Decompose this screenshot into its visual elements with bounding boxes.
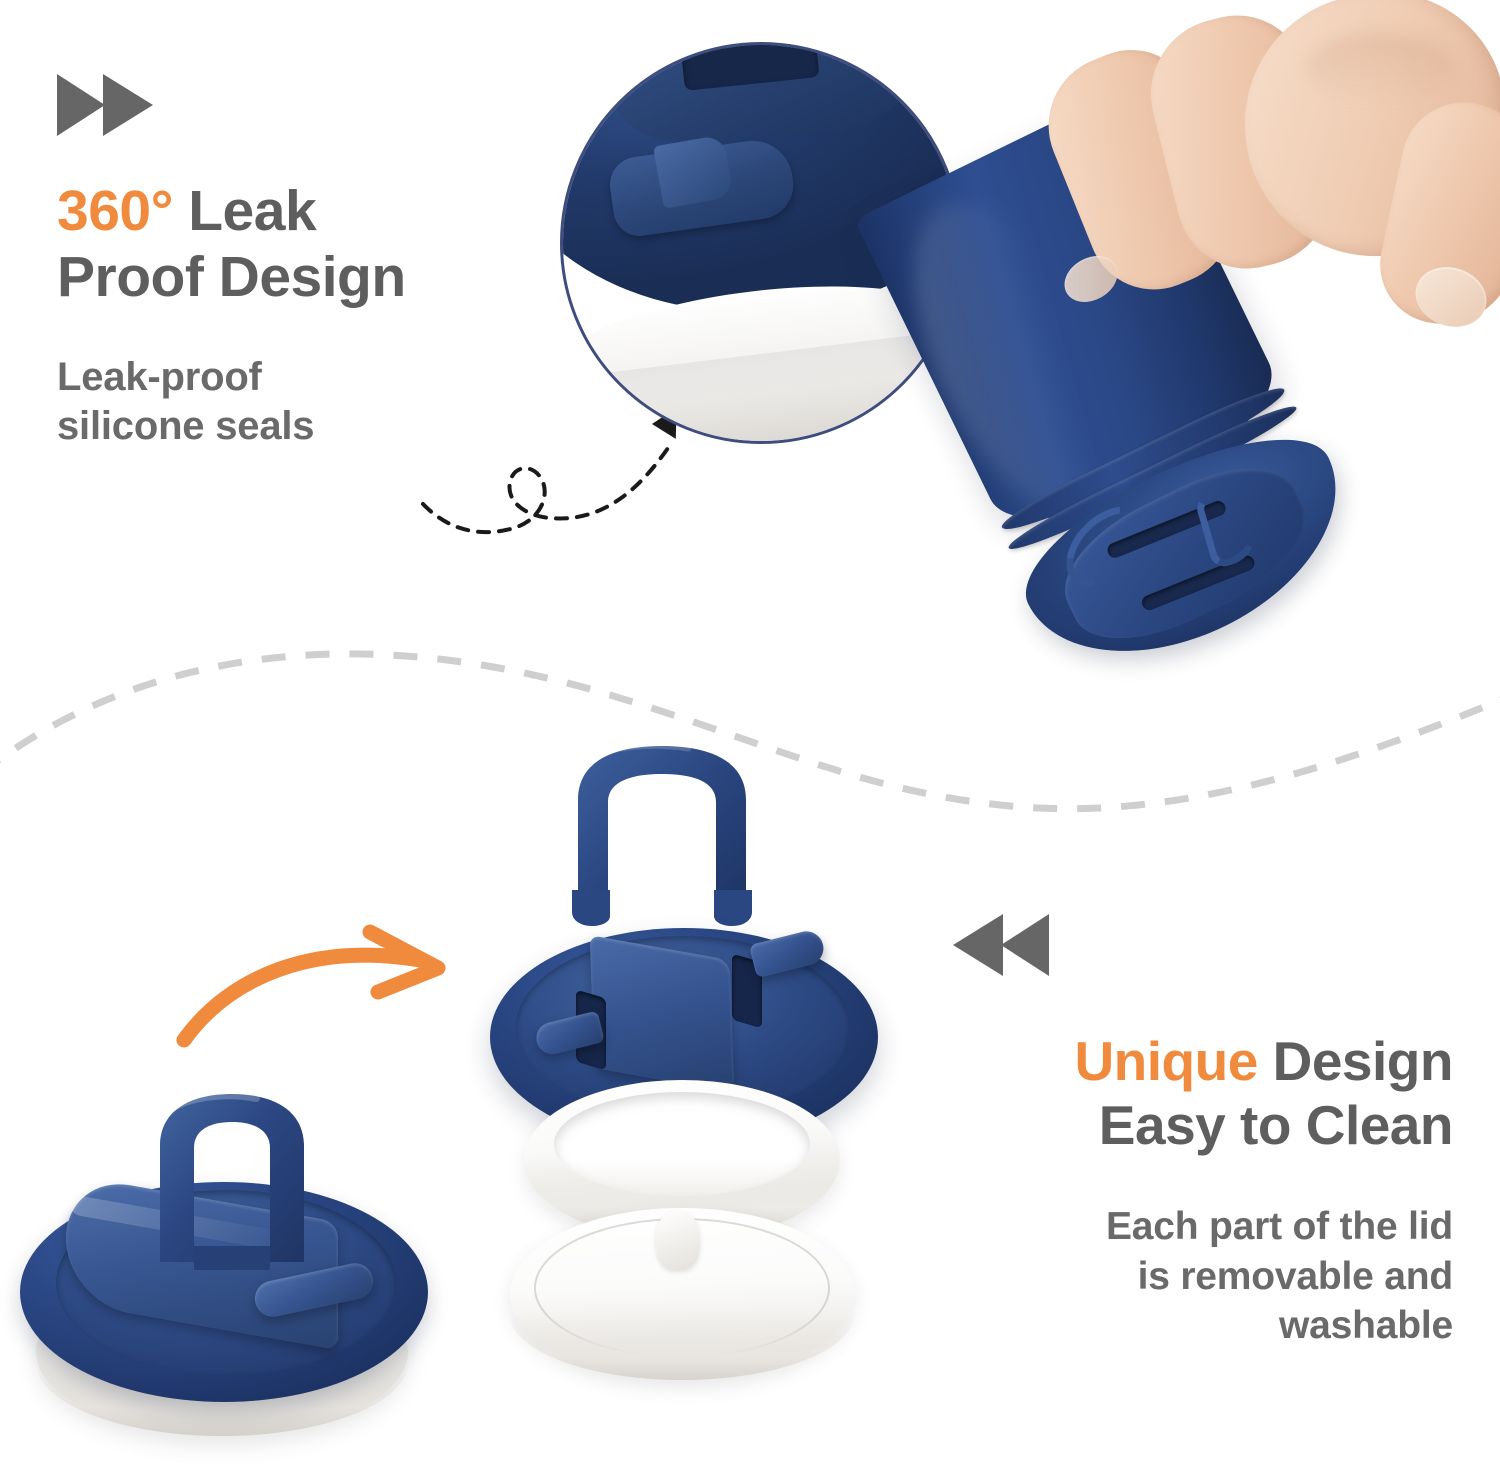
bottom-right-feature-block: Unique Design Easy to Clean Each part of… xyxy=(953,912,1453,1351)
subtext-line2: silicone seals xyxy=(57,402,406,451)
assembled-lid-with-handle xyxy=(8,1086,448,1466)
orange-curved-arrow-right xyxy=(172,928,472,1073)
headline-accent-unique: Unique xyxy=(1074,1030,1257,1092)
top-left-headline: 360° Leak Proof Design xyxy=(57,178,406,310)
headline-rest-line1: Leak xyxy=(173,179,316,243)
headline-line2: Proof Design xyxy=(57,244,406,310)
headline-line2: Easy to Clean xyxy=(953,1094,1453,1158)
bottom-right-headline: Unique Design Easy to Clean xyxy=(953,1030,1453,1158)
exploded-lid-parts xyxy=(480,740,900,1440)
subtext-line3: washable xyxy=(953,1301,1453,1351)
subtext-line1: Each part of the lid xyxy=(953,1202,1453,1252)
lid-handle-bracket xyxy=(558,740,768,920)
top-left-subtext: Leak-proof silicone seals xyxy=(57,353,406,451)
double-chevron-left-icon xyxy=(953,912,1065,978)
bottom-right-subtext: Each part of the lid is removable and wa… xyxy=(953,1202,1453,1352)
subtext-line2: is removable and xyxy=(953,1252,1453,1302)
double-chevron-right-icon xyxy=(57,72,169,138)
headline-accent-360: 360° xyxy=(57,179,173,243)
headline-rest-line1: Design xyxy=(1258,1030,1453,1092)
top-left-feature-block: 360° Leak Proof Design Leak-proof silico… xyxy=(57,72,406,451)
lid-center-flap xyxy=(590,935,735,1093)
gasket-nub xyxy=(656,1210,700,1270)
infographic-canvas: 360° Leak Proof Design Leak-proof silico… xyxy=(0,0,1500,1466)
assembled-carry-handle xyxy=(136,1086,336,1286)
subtext-line1: Leak-proof xyxy=(57,353,406,402)
